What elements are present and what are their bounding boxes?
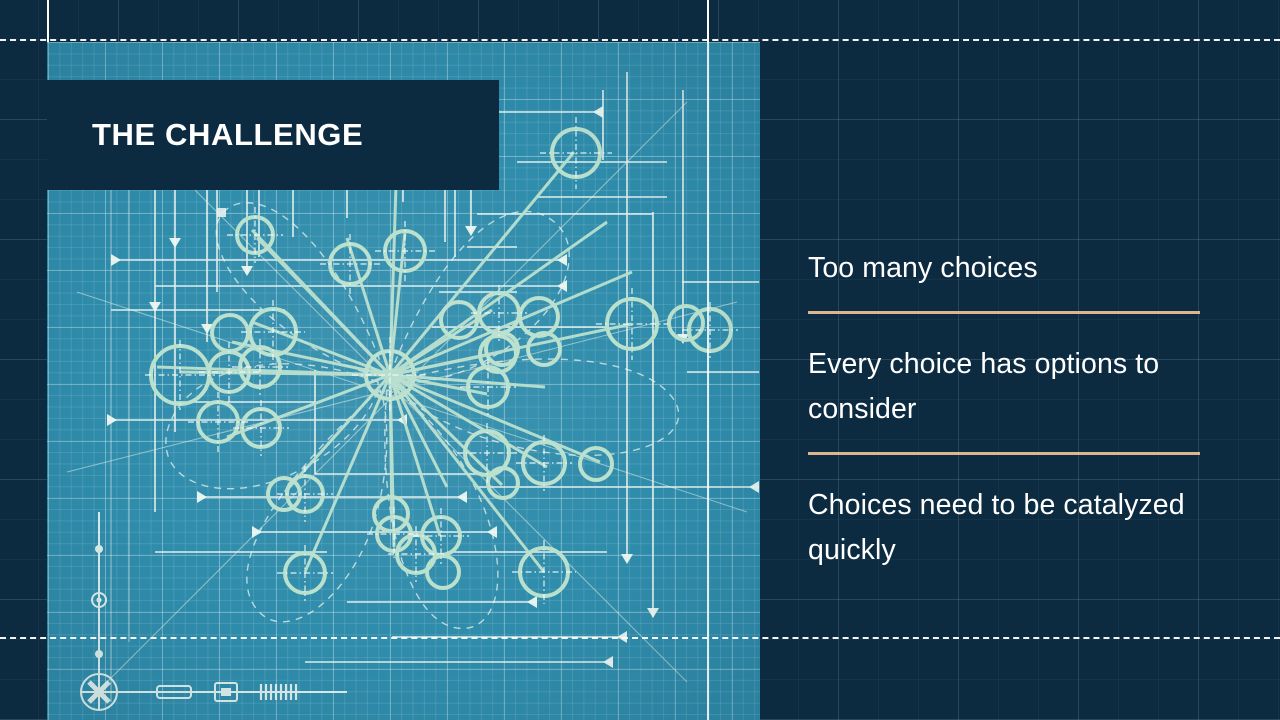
title-plaque: THE CHALLENGE [47,80,499,190]
guide-line-vertical [707,42,709,720]
bullet-item-1: Too many choices [808,246,1200,291]
bullet-item-2: Every choice has options to consider [808,342,1200,432]
bullet-item-3: Choices need to be catalyzed quickly [808,483,1200,573]
page-title: THE CHALLENGE [92,117,363,153]
slide-canvas: THE CHALLENGE Too many choices Every cho… [0,0,1280,720]
crop-mark-bottom [0,637,1280,639]
bullet-list: Too many choices Every choice has option… [808,246,1200,573]
crop-mark-left [47,0,49,42]
crop-mark-right [707,0,709,42]
bullet-divider-1 [808,311,1200,314]
bullet-divider-2 [808,452,1200,455]
crop-mark-top [0,39,1280,41]
